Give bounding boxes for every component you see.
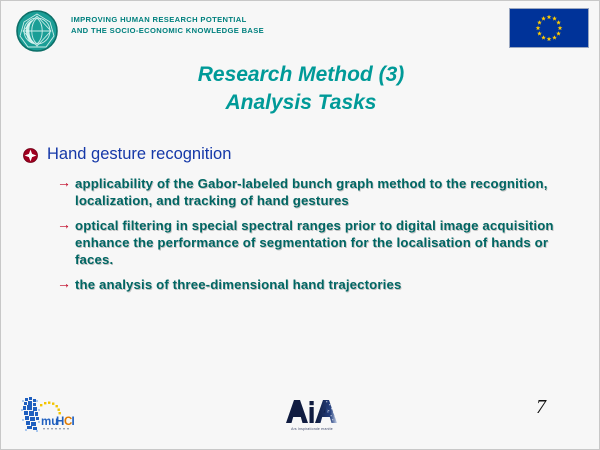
slide-body: Hand gesture recognition → applicability… xyxy=(1,143,600,301)
slide: IMPROVING HUMAN RESEARCH POTENTIAL AND T… xyxy=(0,0,600,450)
title-line-2: Analysis Tasks xyxy=(1,89,600,117)
muhci-logo-icon: mu H C I xyxy=(19,394,81,436)
sub-bullet-item: → optical filtering in special spectral … xyxy=(1,217,600,268)
arrow-right-icon: → xyxy=(57,174,71,191)
arrow-right-icon: → xyxy=(57,216,71,233)
slide-title: Research Method (3) Analysis Tasks xyxy=(1,61,600,117)
bullet-hand-gesture-recognition: Hand gesture recognition xyxy=(1,143,600,165)
sub-bullet-item: → the analysis of three-dimensional hand… xyxy=(1,276,600,293)
sub-bullet-list: → applicability of the Gabor-labeled bun… xyxy=(1,175,600,293)
sub-bullet-label: the analysis of three-dimensional hand t… xyxy=(75,277,401,292)
sub-bullet-item: → applicability of the Gabor-labeled bun… xyxy=(1,175,600,209)
aia-logo-icon: Ars Inspirationde eranite xyxy=(284,396,340,432)
header-programme-text: IMPROVING HUMAN RESEARCH POTENTIAL AND T… xyxy=(71,15,371,36)
aia-logo-subtitle: Ars Inspirationde eranite xyxy=(291,427,333,431)
arrow-right-icon: → xyxy=(57,275,71,292)
header-line-1: IMPROVING HUMAN RESEARCH POTENTIAL xyxy=(71,15,371,26)
page-number: 7 xyxy=(521,396,561,419)
european-union-flag-icon xyxy=(509,8,589,48)
sub-bullet-label: applicability of the Gabor-labeled bunch… xyxy=(75,176,548,208)
title-line-1: Research Method (3) xyxy=(1,61,600,89)
slide-footer: mu H C I xyxy=(1,386,600,450)
red-star-bullet-icon xyxy=(23,147,38,162)
eu-research-globe-emblem-icon xyxy=(15,9,59,53)
bullet-label: Hand gesture recognition xyxy=(47,145,231,163)
header-line-2: AND THE SOCIO-ECONOMIC KNOWLEDGE BASE xyxy=(71,26,371,37)
sub-bullet-label: optical filtering in special spectral ra… xyxy=(75,218,554,267)
slide-header: IMPROVING HUMAN RESEARCH POTENTIAL AND T… xyxy=(1,1,600,57)
svg-text:I: I xyxy=(72,416,75,428)
